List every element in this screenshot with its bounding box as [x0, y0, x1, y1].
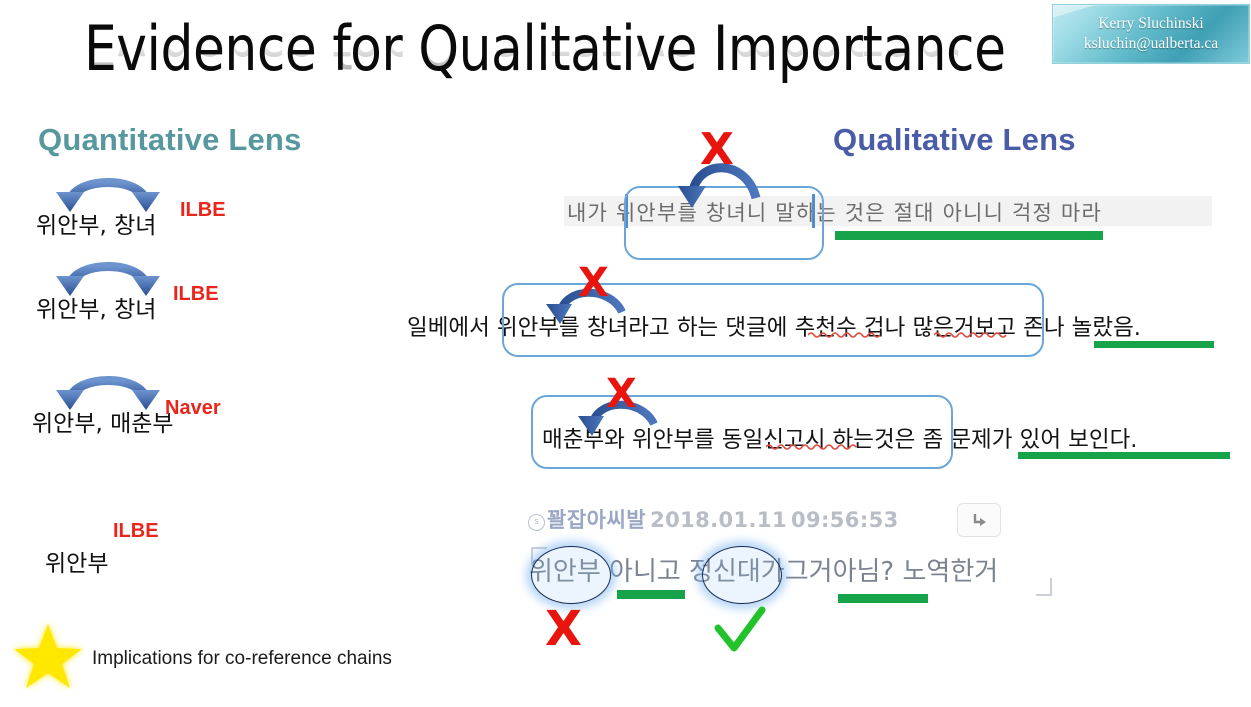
- comment-meta: s꽐잡아씨발2018.01.1109:56:53: [528, 504, 899, 534]
- x-mark-example-1: X: [700, 128, 734, 172]
- circle-highlight-2: [702, 546, 782, 604]
- comment-green-highlight-1: [617, 590, 685, 599]
- comment-username: 꽐잡아씨발: [547, 508, 646, 532]
- quantitative-lens-heading: Quantitative Lens: [38, 122, 302, 158]
- comment-time: 09:56:53: [791, 508, 899, 532]
- spellcheck-squiggle-1: [808, 331, 884, 338]
- example-3-green-highlight: [1018, 452, 1230, 459]
- quote-bracket-right: [1036, 578, 1052, 596]
- reply-button[interactable]: [957, 503, 1001, 537]
- quant-source-3: Naver: [165, 397, 221, 420]
- x-mark-comment: X: [545, 605, 582, 653]
- check-mark-comment: [712, 606, 768, 654]
- quant-source-4: ILBE: [113, 520, 159, 543]
- star-icon: [10, 618, 86, 694]
- comment-date: 2018.01.11: [650, 508, 787, 532]
- quant-source-1: ILBE: [180, 199, 226, 222]
- slide-canvas: Evidence for Qualitative Importance Evid…: [0, 0, 1251, 707]
- author-name: Kerry Sluchinski: [1098, 14, 1203, 34]
- quant-term-2: 위안부, 창녀: [36, 290, 156, 324]
- circle-highlight-1: [531, 546, 611, 604]
- quant-term-4: 위안부: [45, 544, 108, 578]
- author-email: ksluchin@ualberta.ca: [1084, 34, 1218, 54]
- example-2-green-highlight: [1094, 341, 1214, 348]
- spellcheck-squiggle-3: [766, 443, 858, 450]
- qualitative-lens-heading: Qualitative Lens: [833, 122, 1076, 158]
- comment-green-highlight-2: [838, 594, 928, 603]
- comment-badge-icon: s: [528, 514, 545, 531]
- implications-text: Implications for co-reference chains: [92, 648, 392, 670]
- quant-source-2: ILBE: [173, 283, 219, 306]
- page-title: Evidence for Qualitative Importance: [84, 12, 958, 84]
- reply-arrow-icon: [971, 512, 988, 529]
- x-mark-example-2: X: [578, 263, 609, 303]
- example-1-green-highlight: [835, 231, 1103, 240]
- quant-term-3: 위안부, 매춘부: [32, 404, 174, 438]
- spellcheck-squiggle-2: [934, 331, 1008, 338]
- quant-term-1: 위안부, 창녀: [36, 206, 156, 240]
- x-mark-example-3: X: [606, 374, 637, 414]
- author-badge: Kerry Sluchinski ksluchin@ualberta.ca: [1052, 4, 1250, 64]
